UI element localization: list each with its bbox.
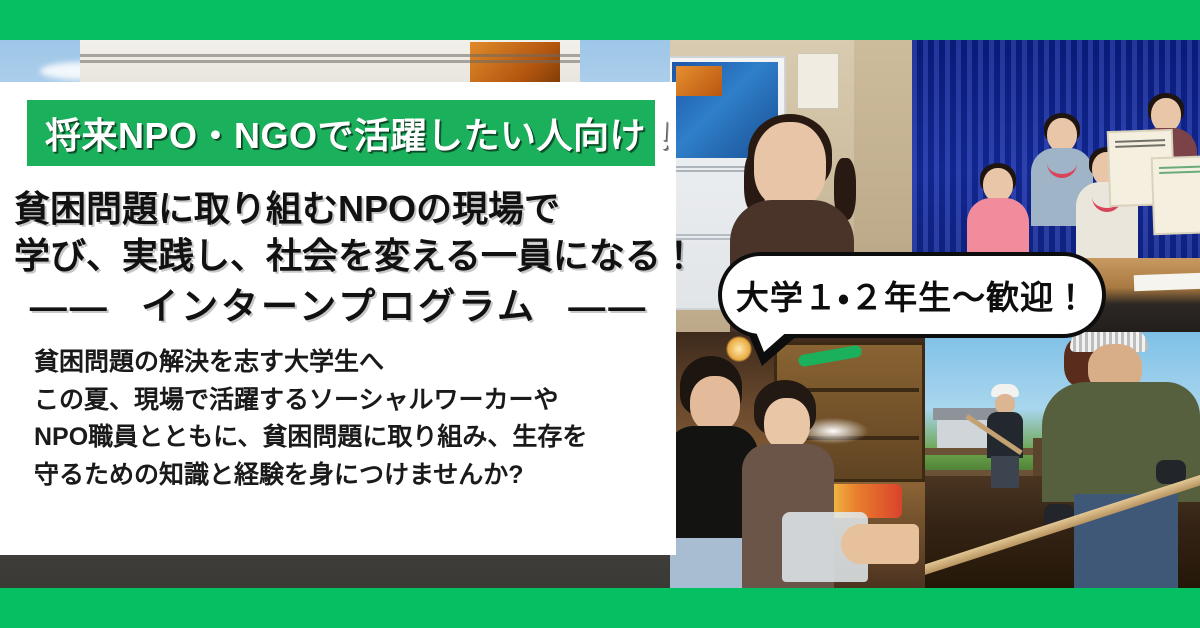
paper-sheet — [1134, 273, 1200, 291]
face-shape — [690, 376, 740, 432]
rule-right: —— — [568, 286, 648, 327]
program-label: —— インターンプログラム —— — [14, 276, 664, 330]
headline-line-2: 学び、実践し、社会を変える一員になる！ — [14, 233, 664, 280]
ribbon-banner: 将来NPO・NGOで活躍したい人向け！ — [27, 100, 655, 166]
text-card: 将来NPO・NGOで活躍したい人向け！ 貧困問題に取り組むNPOの現場で 学び、… — [0, 82, 676, 555]
photo-food-pantry — [670, 332, 925, 588]
body-line-2: この夏、現場で活躍するソーシャルワーカーや — [34, 382, 664, 420]
photo-farm — [925, 332, 1200, 588]
protest-placard — [1153, 157, 1200, 233]
placard-writing — [1115, 139, 1165, 148]
legs-shape — [991, 456, 1019, 488]
body-copy-block: 貧困問題の解決を志す大学生へ この夏、現場で活躍するソーシャルワーカーや NPO… — [34, 344, 664, 494]
receiving-hands — [841, 524, 919, 564]
speech-bubble-label: 大学１・２年生〜歓迎！ — [736, 271, 1088, 319]
body-line-4: 守るための知識と経験を身につけませんか? — [34, 457, 664, 495]
frame-top-band — [0, 0, 1200, 40]
program-label-text: インターンプログラム — [123, 286, 555, 327]
distant-worker-figure — [983, 384, 1027, 488]
frame-bottom-band — [0, 588, 1200, 628]
face-shape — [754, 122, 826, 208]
headline-line-1: 貧困問題に取り組むNPOの現場で — [14, 186, 664, 233]
face-shape — [983, 168, 1013, 202]
face-shape — [764, 398, 810, 450]
rule-left: —— — [30, 286, 110, 327]
body-line-1: 貧困問題の解決を志す大学生へ — [34, 344, 664, 382]
foreground-worker-figure — [1036, 332, 1200, 588]
speech-bubble-tail-fill — [752, 322, 798, 352]
face-shape — [995, 394, 1015, 414]
face-shape — [1151, 98, 1181, 132]
promo-banner: 将来NPO・NGOで活躍したい人向け！ 貧困問題に取り組むNPOの現場で 学び、… — [0, 0, 1200, 628]
placard-writing — [1159, 165, 1200, 174]
headline-block: 貧困問題に取り組むNPOの現場で 学び、実践し、社会を変える一員になる！ — [14, 186, 664, 280]
ribbon-label: 将来NPO・NGOで活躍したい人向け！ — [27, 107, 683, 159]
wall-poster — [798, 54, 838, 108]
body-line-3: NPO職員とともに、貧困問題に取り組み、生存を — [34, 419, 664, 457]
face-shape — [1047, 118, 1077, 152]
